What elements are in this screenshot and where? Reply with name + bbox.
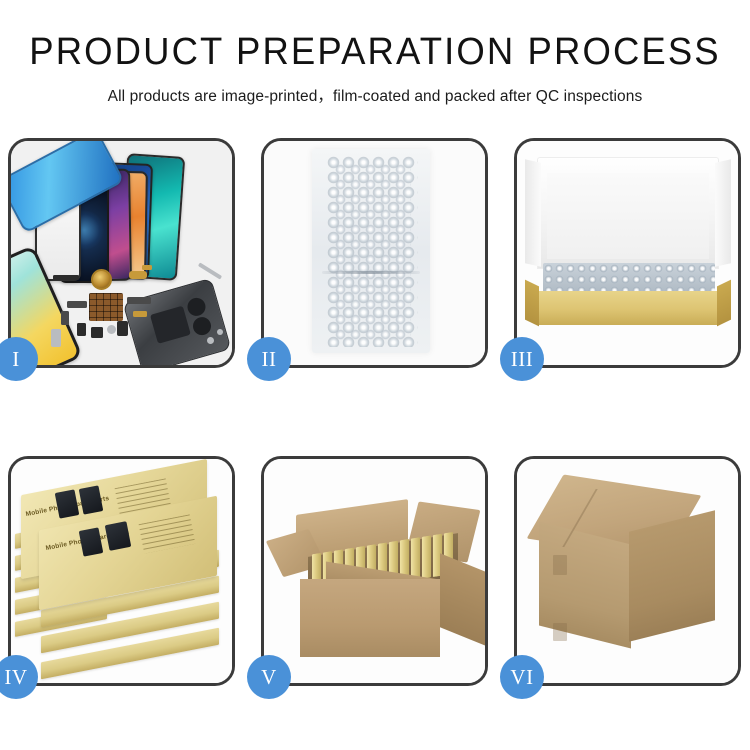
bubble-wrap-pouch [312, 149, 430, 353]
step-badge-1: I [0, 337, 38, 381]
product-preparation-infographic: PRODUCT PREPARATION PROCESS All products… [0, 0, 750, 750]
pouch-seam [322, 271, 420, 274]
carton-tape-lower [553, 623, 567, 641]
part-gold-connector-icon [129, 271, 147, 279]
step-panel-3: III [514, 138, 741, 368]
part-tweezers-icon [198, 262, 222, 279]
part-screw-icon [107, 325, 116, 334]
wireless-coil-icon [91, 269, 112, 290]
carton-tape-upper [553, 555, 567, 575]
phone-parts-scene [11, 141, 232, 365]
step-panel-1: I [8, 138, 235, 368]
carton-side-face [440, 553, 485, 646]
inner-box-front-wall [535, 291, 721, 325]
step-image-3 [517, 141, 738, 365]
part-ribbon-icon [127, 297, 151, 304]
chip-grid-icon [89, 293, 123, 321]
retail-box-stack-scene: Mobile Phone Spare Parts Mobile Phone Sp… [11, 459, 232, 683]
part-gold-flex-icon [133, 311, 147, 317]
open-carton-scene [264, 459, 485, 683]
step-panel-2: II [261, 138, 488, 368]
step-image-4: Mobile Phone Spare Parts Mobile Phone Sp… [11, 459, 232, 683]
carton-right-face [629, 510, 715, 641]
steps-grid: I II [8, 138, 742, 686]
sealed-carton-scene [517, 459, 738, 683]
part-button-icon [77, 323, 86, 336]
part-sim-tray-icon [51, 329, 61, 347]
bubble-wrap-scene [264, 141, 485, 365]
inner-box-scene [517, 141, 738, 365]
part-bracket-icon [61, 311, 69, 325]
page-title: PRODUCT PREPARATION PROCESS [15, 33, 735, 73]
step-badge-3: III [500, 337, 544, 381]
part-small-screw-icon [207, 337, 214, 344]
header: PRODUCT PREPARATION PROCESS All products… [0, 0, 750, 106]
step-image-1 [11, 141, 232, 365]
step-badge-6: VI [500, 655, 544, 699]
bubble-pattern-overlay [333, 162, 411, 340]
phone-back-housing-icon [123, 278, 232, 365]
part-gold-pin-icon [142, 265, 152, 270]
page-subtitle: All products are image-printed，film-coat… [0, 84, 750, 106]
packed-box [411, 537, 420, 580]
step-panel-5: V [261, 456, 488, 686]
step-image-2 [264, 141, 485, 365]
step-image-5 [264, 459, 485, 683]
step-badge-4: IV [0, 655, 38, 699]
carton-front-face [300, 579, 440, 657]
part-flex-cable-icon [67, 301, 87, 308]
step-image-6 [517, 459, 738, 683]
step-panel-4: Mobile Phone Spare Parts Mobile Phone Sp… [8, 456, 235, 686]
part-camera-module-icon [117, 321, 128, 336]
step-badge-2: II [247, 337, 291, 381]
part-speaker-icon [91, 327, 103, 338]
step-badge-5: V [247, 655, 291, 699]
part-strip-icon [53, 275, 79, 280]
inner-box-back-panel [547, 173, 709, 259]
packed-box [422, 535, 431, 578]
box-screen-image [105, 521, 132, 551]
step-panel-6: VI [514, 456, 741, 686]
part-small-screw-2-icon [217, 329, 223, 335]
